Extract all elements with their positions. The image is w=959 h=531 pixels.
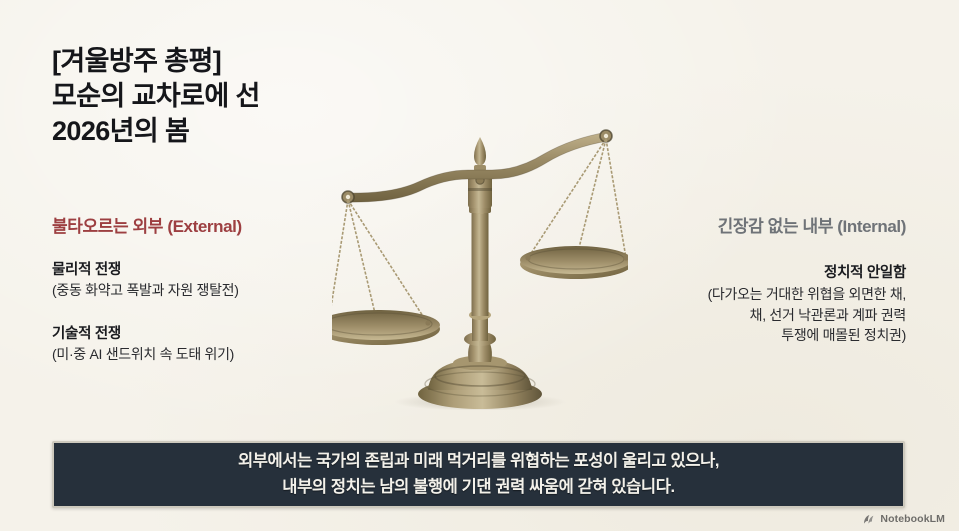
title-line-2: 모순의 교차로에 선: [52, 79, 472, 114]
summary-banner-line: 내부의 정치는 남의 불행에 기댄 권력 싸움에 갇혀 있습니다.: [282, 475, 674, 500]
internal-item-desc-line: 채, 선거 낙관론과 계파 권력: [586, 305, 906, 326]
internal-item-title: 정치적 안일함: [586, 263, 906, 284]
external-item-physical-war: 물리적 전쟁 (중동 화약고 폭발과 자원 쟁탈전): [52, 260, 352, 301]
external-item-desc: (미·중 AI 샌드위치 속 도태 위기): [52, 345, 352, 365]
notebooklm-logo-icon: [863, 514, 876, 525]
internal-item-desc-line: (다가오는 거대한 위협을 외면한 채,: [586, 284, 906, 305]
notebooklm-watermark: NotebookLM: [863, 513, 945, 525]
internal-column-heading: 긴장감 없는 내부 (Internal): [586, 212, 906, 237]
external-column-heading: 불타오르는 외부 (External): [52, 212, 352, 237]
external-item-title: 기술적 전쟁: [52, 324, 352, 345]
notebooklm-watermark-label: NotebookLM: [880, 513, 945, 525]
external-item-title: 물리적 전쟁: [52, 260, 352, 281]
internal-column: 긴장감 없는 내부 (Internal) 정치적 안일함 (다가오는 거대한 위…: [586, 212, 906, 346]
external-item-desc: (중동 화약고 폭발과 자원 쟁탈전): [52, 281, 352, 301]
title-line-3: 2026년의 봄: [52, 114, 472, 149]
external-column: 불타오르는 외부 (External) 물리적 전쟁 (중동 화약고 폭발과 자…: [52, 212, 352, 365]
slide-canvas: [겨울방주 총평] 모순의 교차로에 선 2026년의 봄 불타오르는 외부 (…: [0, 0, 959, 531]
internal-item-political-complacency: 정치적 안일함 (다가오는 거대한 위협을 외면한 채, 채, 선거 낙관론과 …: [586, 263, 906, 346]
balance-scale-icon: [332, 110, 628, 410]
internal-item-desc-line: 투쟁에 매몰된 정치권): [586, 325, 906, 346]
title-line-1: [겨울방주 총평]: [52, 44, 472, 79]
external-item-tech-war: 기술적 전쟁 (미·중 AI 샌드위치 속 도태 위기): [52, 324, 352, 365]
page-title: [겨울방주 총평] 모순의 교차로에 선 2026년의 봄: [52, 44, 472, 149]
summary-banner: 외부에서는 국가의 존립과 미래 먹거리를 위협하는 포성이 울리고 있으나, …: [52, 441, 905, 508]
summary-banner-line: 외부에서는 국가의 존립과 미래 먹거리를 위협하는 포성이 울리고 있으나,: [238, 449, 719, 474]
